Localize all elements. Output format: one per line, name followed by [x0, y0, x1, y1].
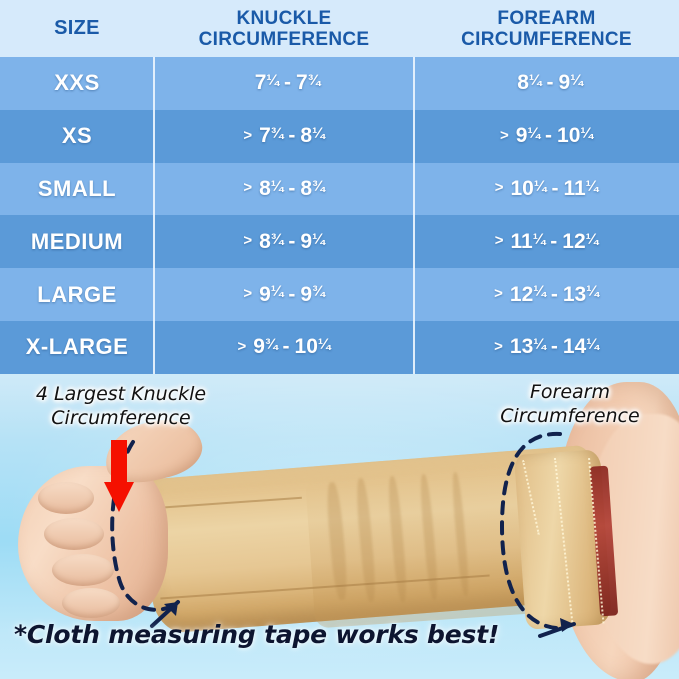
range-dash: - [545, 124, 552, 148]
range-high-fraction: ¼ [586, 336, 599, 353]
range-low-fraction: ¼ [529, 72, 542, 89]
range-dash: - [550, 230, 557, 254]
range-dash: - [551, 335, 558, 359]
range-high-fraction: ¾ [308, 72, 321, 89]
range-dash: - [288, 124, 295, 148]
gt-symbol: > [494, 285, 503, 302]
cell-size: LARGE [0, 268, 154, 321]
table-row[interactable]: X-LARGE >9¾-10¼ >13¼-14¼ [0, 321, 679, 374]
range-low-fraction: ¼ [533, 336, 546, 353]
column-divider-1 [153, 57, 155, 374]
range-low: 9 [259, 283, 271, 307]
range-high: 12 [562, 230, 585, 254]
size-chart-page: SIZE KNUCKLE CIRCUMFERENCE FOREARM CIRCU… [0, 0, 679, 679]
range-high: 13 [563, 283, 586, 307]
red-down-arrow-icon [104, 440, 134, 512]
range-low-fraction: ¼ [271, 283, 284, 300]
range-high: 8 [300, 177, 312, 201]
knuckle [44, 518, 104, 550]
forearm-annotation-label: Forearm Circumference [470, 380, 670, 428]
column-header-size: SIZE [0, 0, 154, 57]
product-photo: 4 Largest Knuckle Circumference Forearm … [0, 374, 679, 679]
cell-knuckle: >9¾-10¼ [154, 321, 414, 374]
range-low-fraction: ¼ [271, 178, 284, 195]
range-high-fraction: ¼ [312, 125, 325, 142]
table-row[interactable]: LARGE >9¼-9¾ >12¼-13¼ [0, 268, 679, 321]
gt-symbol: > [243, 285, 252, 302]
cell-forearm: 8¼-9¼ [414, 57, 679, 110]
column-divider-2 [413, 57, 415, 374]
range-high-fraction: ¼ [580, 125, 593, 142]
cell-size: SMALL [0, 163, 154, 216]
range-low-fraction: ¾ [265, 336, 278, 353]
range-low-fraction: ¼ [534, 178, 547, 195]
range-high: 9 [300, 283, 312, 307]
range-low: 9 [516, 124, 528, 148]
cell-size: MEDIUM [0, 215, 154, 268]
range-low-fraction: ¼ [533, 231, 546, 248]
table-row[interactable]: XS >7¾-8¼ >9¼-10¼ [0, 110, 679, 163]
gt-symbol: > [243, 127, 252, 144]
cell-forearm: >12¼-13¼ [414, 268, 679, 321]
range-high: 14 [563, 335, 586, 359]
column-header-forearm: FOREARM CIRCUMFERENCE [414, 0, 679, 57]
gt-symbol: > [243, 232, 252, 249]
range-dash: - [283, 335, 290, 359]
table-header-row: SIZE KNUCKLE CIRCUMFERENCE FOREARM CIRCU… [0, 0, 679, 57]
range-high: 7 [296, 71, 308, 95]
range-high-fraction: ¼ [586, 178, 599, 195]
gt-symbol: > [495, 232, 504, 249]
knuckle [52, 554, 114, 586]
cell-size: X-LARGE [0, 321, 154, 374]
range-high-fraction: ¼ [570, 72, 583, 89]
range-high-fraction: ¼ [586, 283, 599, 300]
cell-knuckle: >7¾-8¼ [154, 110, 414, 163]
range-low-fraction: ¾ [271, 231, 284, 248]
range-low: 8 [259, 177, 271, 201]
knuckle-annotation-label: 4 Largest Knuckle Circumference [12, 382, 230, 430]
cell-knuckle: 7¼-7¾ [154, 57, 414, 110]
range-low: 7 [255, 71, 267, 95]
range-dash: - [551, 283, 558, 307]
knuckle [38, 482, 94, 514]
gt-symbol: > [237, 338, 246, 355]
measuring-tape-caption: *Cloth measuring tape works best! [14, 620, 499, 649]
range-high: 10 [557, 124, 580, 148]
gt-symbol: > [243, 179, 252, 196]
gt-symbol: > [500, 127, 509, 144]
table-row[interactable]: XXS 7¼-7¾ 8¼-9¼ [0, 57, 679, 110]
cell-size: XXS [0, 57, 154, 110]
knuckle [62, 588, 120, 618]
cell-knuckle: >8¼-8¾ [154, 163, 414, 216]
arrow-head [104, 482, 134, 512]
range-low: 8 [259, 230, 271, 254]
range-high: 8 [300, 124, 312, 148]
table-body: XXS 7¼-7¾ 8¼-9¼ XS >7¾-8¼ >9¼-10¼ SMALL [0, 57, 679, 374]
range-low-fraction: ¾ [271, 125, 284, 142]
cell-forearm: >11¼-12¼ [414, 215, 679, 268]
range-low: 8 [517, 71, 529, 95]
range-high-fraction: ¾ [312, 178, 325, 195]
cell-forearm: >13¼-14¼ [414, 321, 679, 374]
range-high: 9 [300, 230, 312, 254]
cell-size: XS [0, 110, 154, 163]
cell-forearm: >10¼-11¼ [414, 163, 679, 216]
table-row[interactable]: MEDIUM >8¾-9¼ >11¼-12¼ [0, 215, 679, 268]
range-low-fraction: ¼ [266, 72, 279, 89]
gt-symbol: > [494, 338, 503, 355]
range-high-fraction: ¼ [312, 231, 325, 248]
gt-symbol: > [495, 179, 504, 196]
range-low: 13 [510, 335, 533, 359]
range-dash: - [547, 71, 554, 95]
range-dash: - [288, 230, 295, 254]
range-low-fraction: ¼ [527, 125, 540, 142]
range-low: 9 [253, 335, 265, 359]
size-table: SIZE KNUCKLE CIRCUMFERENCE FOREARM CIRCU… [0, 0, 679, 374]
range-high: 9 [559, 71, 571, 95]
table-row[interactable]: SMALL >8¼-8¾ >10¼-11¼ [0, 163, 679, 216]
range-low: 10 [510, 177, 533, 201]
range-high-fraction: ¾ [312, 283, 325, 300]
range-high: 10 [295, 335, 318, 359]
range-dash: - [551, 177, 558, 201]
cell-knuckle: >9¼-9¾ [154, 268, 414, 321]
range-high: 11 [563, 177, 585, 201]
column-header-knuckle: KNUCKLE CIRCUMFERENCE [154, 0, 414, 57]
range-high-fraction: ¼ [586, 231, 599, 248]
range-dash: - [288, 177, 295, 201]
arrow-shaft [111, 440, 127, 486]
cell-forearm: >9¼-10¼ [414, 110, 679, 163]
range-low: 7 [259, 124, 271, 148]
range-low: 11 [510, 230, 532, 254]
cell-knuckle: >8¾-9¼ [154, 215, 414, 268]
range-high-fraction: ¼ [318, 336, 331, 353]
range-dash: - [288, 283, 295, 307]
range-low-fraction: ¼ [533, 283, 546, 300]
range-low: 12 [510, 283, 533, 307]
range-dash: - [284, 71, 291, 95]
